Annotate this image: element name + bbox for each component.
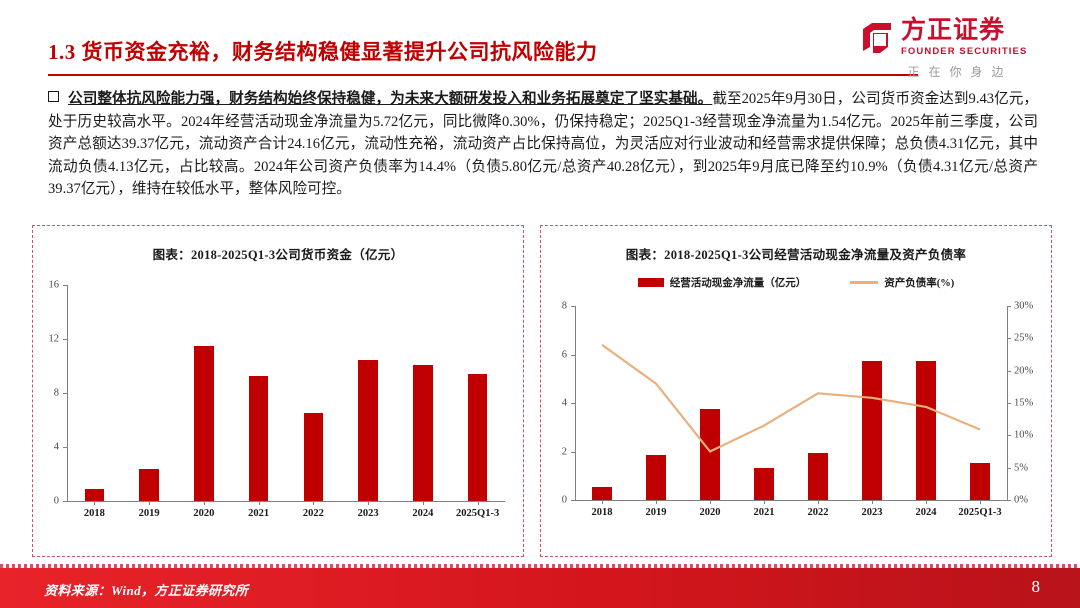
body-paragraph: 公司整体抗风险能力强，财务结构始终保持稳健，为未来大额研发投入和业务拓展奠定了坚… <box>48 88 1038 201</box>
y2-tick-mark <box>1007 306 1011 307</box>
y-tick-mark <box>571 452 575 453</box>
y-tick-mark <box>571 306 575 307</box>
left-chart-title: 图表：2018-2025Q1-3公司货币资金（亿元） <box>33 244 523 263</box>
x-tick-label: 2021 <box>248 508 269 519</box>
chart-panel-currency-funds: 图表：2018-2025Q1-3公司货币资金（亿元） 0481216201820… <box>32 225 524 557</box>
legend-bar-swatch <box>638 278 664 287</box>
page-number: 8 <box>1032 577 1041 597</box>
x-tick-mark <box>313 501 314 505</box>
chart-bar <box>754 468 773 500</box>
x-tick-label: 2021 <box>754 507 775 518</box>
x-tick-label: 2022 <box>303 508 324 519</box>
chart-bar <box>194 346 214 501</box>
x-tick-mark <box>423 501 424 505</box>
legend-label-cashflow: 经营活动现金净流量（亿元） <box>670 275 807 290</box>
chart-bar <box>468 374 488 501</box>
y-tick-label: 2 <box>541 446 567 457</box>
body-bullet-block: 公司整体抗风险能力强，财务结构始终保持稳健，为未来大额研发投入和业务拓展奠定了坚… <box>48 88 1038 201</box>
body-lead-text: 公司整体抗风险能力强，财务结构始终保持稳健，为未来大额研发投入和业务拓展奠定了坚… <box>68 91 712 107</box>
x-tick-label: 2020 <box>193 508 214 519</box>
y-axis-line <box>67 285 68 501</box>
x-tick-label: 2019 <box>646 507 667 518</box>
y-tick-mark <box>571 500 575 501</box>
y-tick-mark <box>571 403 575 404</box>
y-tick-label: 4 <box>541 398 567 409</box>
y2-tick-label: 10% <box>1014 430 1033 441</box>
x-tick-mark <box>149 501 150 505</box>
y-tick-mark <box>63 393 67 394</box>
page-footer: 资料来源：Wind，方正证券研究所 8 <box>0 568 1080 608</box>
y2-tick-mark <box>1007 371 1011 372</box>
chart-panel-cashflow-debtratio: 图表：2018-2025Q1-3公司经营活动现金净流量及资产负债率 经营活动现金… <box>540 225 1052 557</box>
y2-tick-mark <box>1007 435 1011 436</box>
y-tick-mark <box>63 447 67 448</box>
y-tick-mark <box>63 285 67 286</box>
x-tick-mark <box>368 501 369 505</box>
x-tick-label: 2025Q1-3 <box>958 507 1001 518</box>
chart-bar <box>700 409 719 500</box>
y-tick-label: 4 <box>33 442 59 453</box>
chart-bar <box>970 463 989 500</box>
chart-bar <box>916 361 935 500</box>
y-axis-line <box>575 306 576 500</box>
page-title: 1.3 货币资金充裕，财务结构稳健显著提升公司抗风险能力 <box>48 36 598 66</box>
y-tick-mark <box>571 355 575 356</box>
right-chart-legend: 经营活动现金净流量（亿元） 资产负债率(%) <box>541 275 1051 290</box>
chart-bar <box>85 489 105 501</box>
x-tick-mark <box>764 500 765 504</box>
x-tick-label: 2024 <box>916 507 937 518</box>
x-axis-line <box>575 500 1007 501</box>
chart-bar <box>862 361 881 500</box>
y-tick-label: 0 <box>33 496 59 507</box>
x-tick-mark <box>656 500 657 504</box>
x-tick-label: 2022 <box>808 507 829 518</box>
y2-tick-mark <box>1007 468 1011 469</box>
y-tick-label: 16 <box>33 280 59 291</box>
y-tick-label: 8 <box>541 301 567 312</box>
y2-tick-mark <box>1007 500 1011 501</box>
y-tick-mark <box>63 339 67 340</box>
logo-chinese-name: 方正证券 <box>901 18 1027 43</box>
x-tick-mark <box>980 500 981 504</box>
logo-tagline: 正在你身边 <box>860 63 1060 80</box>
chart-bar <box>304 413 324 501</box>
chart-bar <box>592 487 611 500</box>
y2-tick-mark <box>1007 403 1011 404</box>
x-tick-mark <box>478 501 479 505</box>
y-tick-mark <box>63 501 67 502</box>
company-logo: 方正证券 FOUNDER SECURITIES 正在你身边 <box>860 18 1060 80</box>
legend-item-debtratio: 资产负债率(%) <box>850 275 954 290</box>
chart-bar <box>646 455 665 500</box>
x-tick-mark <box>872 500 873 504</box>
x-tick-label: 2025Q1-3 <box>456 508 499 519</box>
x-tick-label: 2023 <box>862 507 883 518</box>
right-chart-plot-area: 024680%5%10%15%20%25%30%2018201920202021… <box>541 298 1051 526</box>
x-tick-mark <box>710 500 711 504</box>
x-tick-label: 2018 <box>592 507 613 518</box>
footer-source-text: 资料来源：Wind，方正证券研究所 <box>44 580 248 599</box>
x-tick-mark <box>602 500 603 504</box>
y-tick-label: 12 <box>33 334 59 345</box>
x-tick-label: 2018 <box>84 508 105 519</box>
x-tick-label: 2019 <box>139 508 160 519</box>
chart-bar <box>249 376 269 501</box>
x-tick-mark <box>259 501 260 505</box>
y2-tick-label: 20% <box>1014 365 1033 376</box>
x-tick-mark <box>94 501 95 505</box>
chart-bar <box>808 453 827 500</box>
y-tick-label: 8 <box>33 388 59 399</box>
left-chart-plot-area: 048121620182019202020212022202320242025Q… <box>33 277 523 527</box>
x-tick-label: 2020 <box>700 507 721 518</box>
x-tick-mark <box>204 501 205 505</box>
y2-tick-label: 15% <box>1014 398 1033 409</box>
founder-logo-mark <box>860 21 894 55</box>
y2-tick-label: 0% <box>1014 495 1028 506</box>
legend-label-debtratio: 资产负债率(%) <box>884 275 954 290</box>
y2-tick-label: 25% <box>1014 333 1033 344</box>
x-tick-mark <box>818 500 819 504</box>
y2-tick-label: 30% <box>1014 301 1033 312</box>
x-axis-line <box>67 501 505 502</box>
chart-bar <box>413 365 433 501</box>
x-tick-label: 2024 <box>412 508 433 519</box>
chart-bar <box>358 360 378 501</box>
x-tick-mark <box>926 500 927 504</box>
right-chart-title: 图表：2018-2025Q1-3公司经营活动现金净流量及资产负债率 <box>541 244 1051 263</box>
square-bullet-icon <box>48 91 59 102</box>
y-tick-label: 0 <box>541 495 567 506</box>
title-divider <box>48 74 918 76</box>
y-tick-label: 6 <box>541 349 567 360</box>
legend-line-swatch <box>850 281 878 284</box>
chart-bar <box>139 469 159 501</box>
y2-tick-label: 5% <box>1014 462 1028 473</box>
y2-tick-mark <box>1007 338 1011 339</box>
logo-english-name: FOUNDER SECURITIES <box>901 46 1027 57</box>
legend-item-cashflow: 经营活动现金净流量（亿元） <box>638 275 807 290</box>
x-tick-label: 2023 <box>358 508 379 519</box>
